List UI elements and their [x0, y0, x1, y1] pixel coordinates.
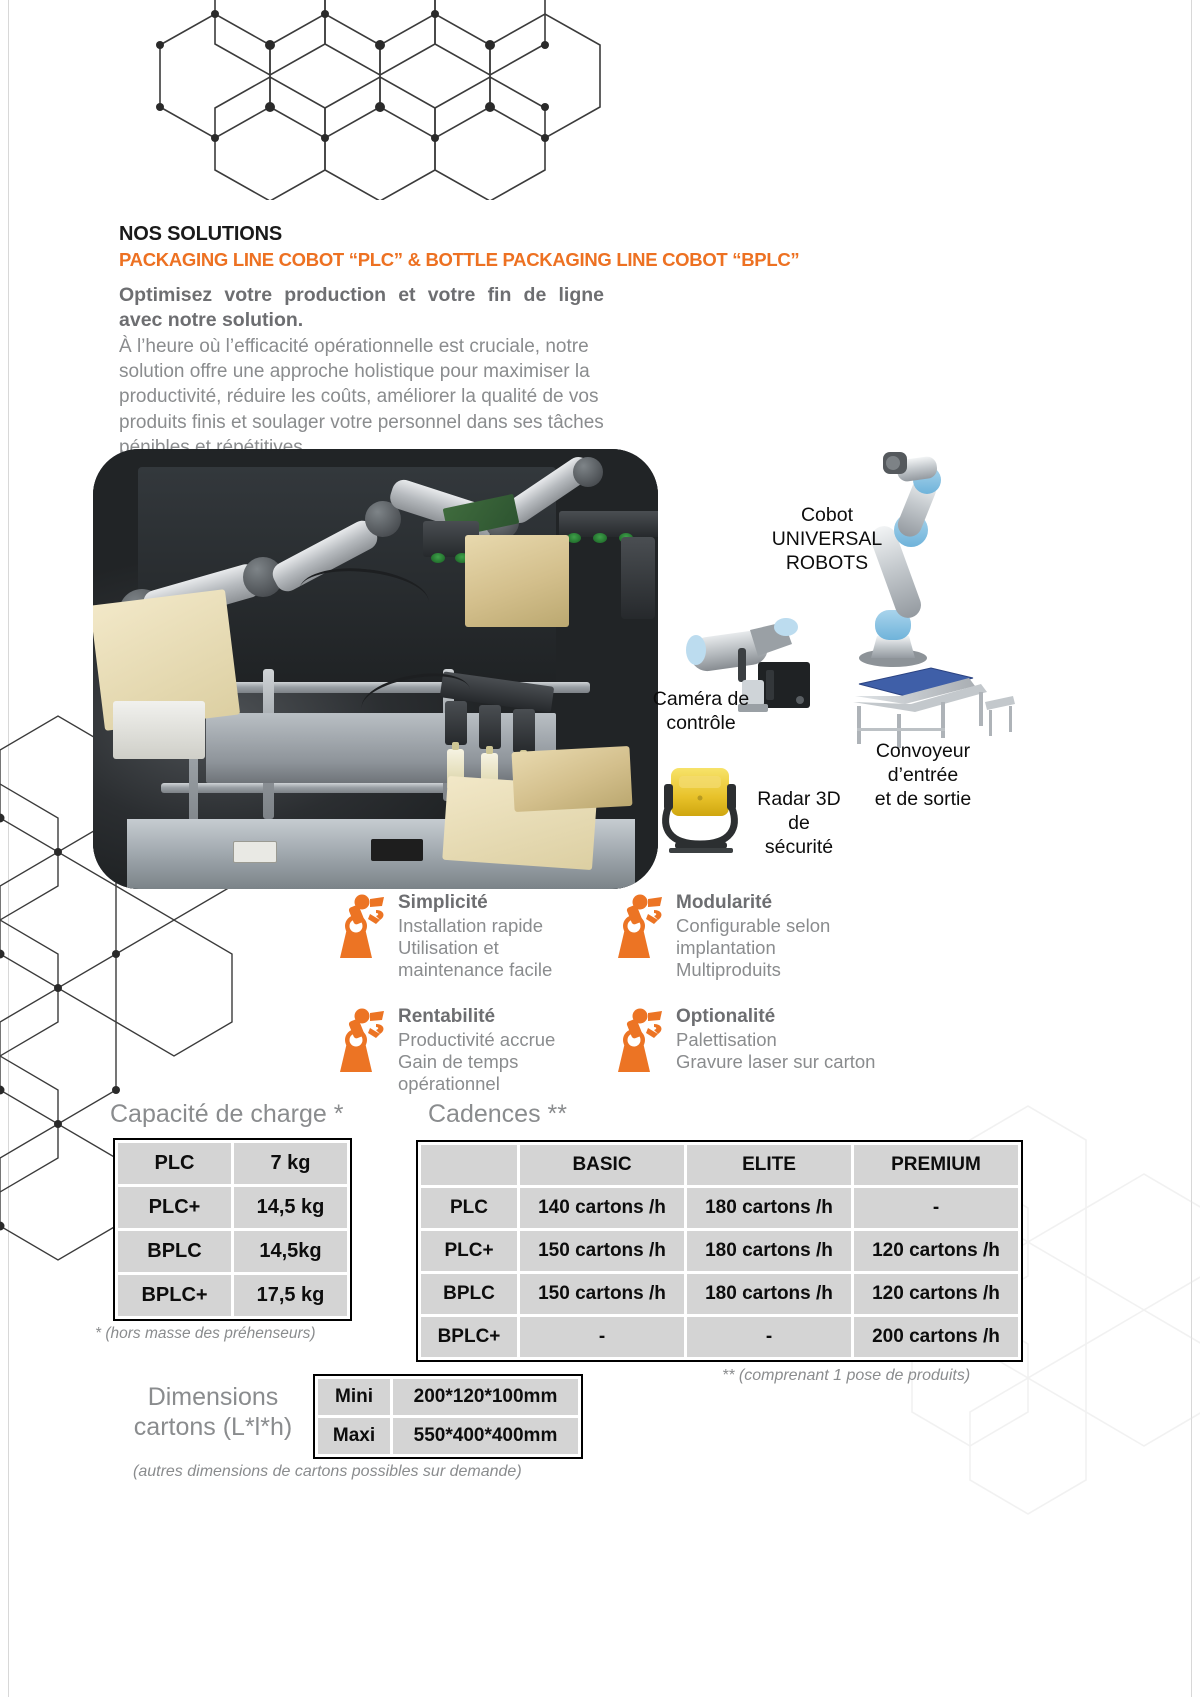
- table-row: Maxi 550*400*400mm: [318, 1418, 578, 1454]
- cadences-title: Cadences **: [428, 1100, 567, 1129]
- table-row: BPLC 14,5kg: [118, 1231, 347, 1272]
- table-row: Mini 200*120*100mm: [318, 1379, 578, 1415]
- cadences-header-elite: ELITE: [687, 1145, 851, 1185]
- header-block: NOS SOLUTIONS PACKAGING LINE COBOT “PLC”…: [119, 222, 819, 271]
- robot-arm-icon: [608, 890, 666, 962]
- page-right-rule: [1191, 0, 1192, 1697]
- control-panel: [371, 839, 423, 861]
- cadences-model: PLC+: [421, 1231, 517, 1271]
- section-eyebrow: NOS SOLUTIONS: [119, 222, 819, 246]
- feature-line: Utilisation et: [398, 937, 552, 959]
- robot-joint: [573, 457, 603, 487]
- suction-cup: [567, 533, 581, 543]
- cadences-elite: 180 cartons /h: [687, 1188, 851, 1228]
- feature-line: Installation rapide: [398, 915, 552, 937]
- cadences-model: PLC: [421, 1188, 517, 1228]
- cadences-basic: 150 cartons /h: [520, 1274, 684, 1314]
- capacite-value: 14,5kg: [234, 1231, 347, 1272]
- capacite-model: BPLC: [118, 1231, 231, 1272]
- table-row: BPLC+ - - 200 cartons /h: [421, 1317, 1018, 1357]
- page-left-rule: [8, 0, 9, 1697]
- callout-convoyeur: Convoyeur d’entrée et de sortie: [843, 740, 1003, 811]
- capacite-value: 14,5 kg: [234, 1187, 347, 1228]
- capacite-model: PLC+: [118, 1187, 231, 1228]
- capacite-title: Capacité de charge *: [110, 1100, 343, 1129]
- table-row: PLC+ 150 cartons /h 180 cartons /h 120 c…: [421, 1231, 1018, 1271]
- product-line-title: PACKAGING LINE COBOT “PLC” & BOTTLE PACK…: [119, 248, 819, 271]
- intro-body: À l’heure où l’efficacité opérationnelle…: [119, 334, 604, 460]
- carton: [465, 535, 569, 627]
- cadences-elite: -: [687, 1317, 851, 1357]
- feature-title: Optionalité: [676, 1006, 875, 1028]
- table-row: PLC 7 kg: [118, 1143, 347, 1184]
- brochure-page: NOS SOLUTIONS PACKAGING LINE COBOT “PLC”…: [0, 0, 1200, 1697]
- feature-line: maintenance facile: [398, 959, 552, 981]
- feature-title: Modularité: [676, 892, 830, 914]
- cadences-header-premium: PREMIUM: [854, 1145, 1018, 1185]
- cadences-premium: 200 cartons /h: [854, 1317, 1018, 1357]
- cadences-header-basic: BASIC: [520, 1145, 684, 1185]
- intro-block: Optimisez votre production et votre fin …: [119, 283, 604, 460]
- hexagon-pattern-top: [120, 0, 680, 200]
- safety-radar-illustration: [655, 762, 747, 858]
- table-row: BPLC+ 17,5 kg: [118, 1275, 347, 1316]
- cadences-footnote: ** (comprenant 1 pose de produits): [722, 1367, 970, 1385]
- cadences-model: BPLC: [421, 1274, 517, 1314]
- cadences-header-blank: [421, 1145, 517, 1185]
- callout-radar: Radar 3D de sécurité: [742, 788, 856, 859]
- table-row: PLC+ 14,5 kg: [118, 1187, 347, 1228]
- gripper-finger: [621, 537, 655, 619]
- gripper-finger: [513, 709, 535, 753]
- capacite-footnote: * (hors masse des préhenseurs): [95, 1325, 316, 1343]
- dimensions-key: Maxi: [318, 1418, 390, 1454]
- capacite-model: BPLC+: [118, 1275, 231, 1316]
- carton: [512, 746, 633, 812]
- feature-line: opérationnel: [398, 1073, 555, 1095]
- robot-arm-icon: [608, 1004, 666, 1076]
- capacite-table: PLC 7 kg PLC+ 14,5 kg BPLC 14,5kg BPLC+ …: [113, 1138, 352, 1321]
- cadences-basic: -: [520, 1317, 684, 1357]
- feature-line: Gravure laser sur carton: [676, 1051, 875, 1073]
- table-row: PLC 140 cartons /h 180 cartons /h -: [421, 1188, 1018, 1228]
- callout-camera: Caméra de contrôle: [645, 688, 757, 736]
- cadences-table: BASIC ELITE PREMIUM PLC 140 cartons /h 1…: [416, 1140, 1023, 1362]
- cadences-basic: 140 cartons /h: [520, 1188, 684, 1228]
- cadences-premium: 120 cartons /h: [854, 1274, 1018, 1314]
- feature-line: Configurable selon: [676, 915, 830, 937]
- feature-optionalite: Optionalité Palettisation Gravure laser …: [608, 1002, 970, 1094]
- robot-arm-icon: [330, 1004, 388, 1076]
- intro-lead: Optimisez votre production et votre fin …: [119, 283, 604, 333]
- table-row: BPLC 150 cartons /h 180 cartons /h 120 c…: [421, 1274, 1018, 1314]
- robot-arm-icon: [330, 890, 388, 962]
- packaging-line-photo: [93, 449, 658, 889]
- cadences-premium: -: [854, 1188, 1018, 1228]
- feature-modularite: Modularité Configurable selon implantati…: [608, 888, 970, 980]
- feature-line: Gain de temps: [398, 1051, 555, 1073]
- cadences-model: BPLC+: [421, 1317, 517, 1357]
- dimensions-key: Mini: [318, 1379, 390, 1415]
- feature-line: Palettisation: [676, 1029, 875, 1051]
- dimensions-value: 550*400*400mm: [393, 1418, 578, 1454]
- dimensions-label-line2: cartons (L*l*h): [118, 1412, 308, 1442]
- capacite-value: 7 kg: [234, 1143, 347, 1184]
- conveyor-bed: [206, 713, 556, 783]
- dimensions-label-line1: Dimensions: [118, 1382, 308, 1412]
- conveyor-illustration: [845, 662, 1015, 752]
- feature-rentabilite: Rentabilité Productivité accrue Gain de …: [330, 1002, 608, 1094]
- feature-line: Multiproduits: [676, 959, 830, 981]
- gripper-finger: [479, 705, 501, 749]
- callout-cobot: Cobot UNIVERSAL ROBOTS: [742, 504, 912, 575]
- dimensions-table: Mini 200*120*100mm Maxi 550*400*400mm: [313, 1374, 583, 1459]
- dimensions-value: 200*120*100mm: [393, 1379, 578, 1415]
- suction-cup: [431, 553, 445, 563]
- cadences-basic: 150 cartons /h: [520, 1231, 684, 1271]
- machine-label: [233, 841, 277, 863]
- dimensions-footnote: (autres dimensions de cartons possibles …: [133, 1463, 522, 1481]
- feature-title: Simplicité: [398, 892, 552, 914]
- table-header-row: BASIC ELITE PREMIUM: [421, 1145, 1018, 1185]
- feature-line: implantation: [676, 937, 830, 959]
- feature-title: Rentabilité: [398, 1006, 555, 1028]
- feature-line: Productivité accrue: [398, 1029, 555, 1051]
- cadences-premium: 120 cartons /h: [854, 1231, 1018, 1271]
- suction-cup: [593, 533, 607, 543]
- dimensions-label: Dimensions cartons (L*l*h): [118, 1382, 308, 1442]
- product-tray: [113, 701, 205, 759]
- feature-simplicite: Simplicité Installation rapide Utilisati…: [330, 888, 608, 980]
- cadences-elite: 180 cartons /h: [687, 1231, 851, 1271]
- features-grid: Simplicité Installation rapide Utilisati…: [330, 888, 970, 1095]
- cadences-elite: 180 cartons /h: [687, 1274, 851, 1314]
- capacite-value: 17,5 kg: [234, 1275, 347, 1316]
- capacite-model: PLC: [118, 1143, 231, 1184]
